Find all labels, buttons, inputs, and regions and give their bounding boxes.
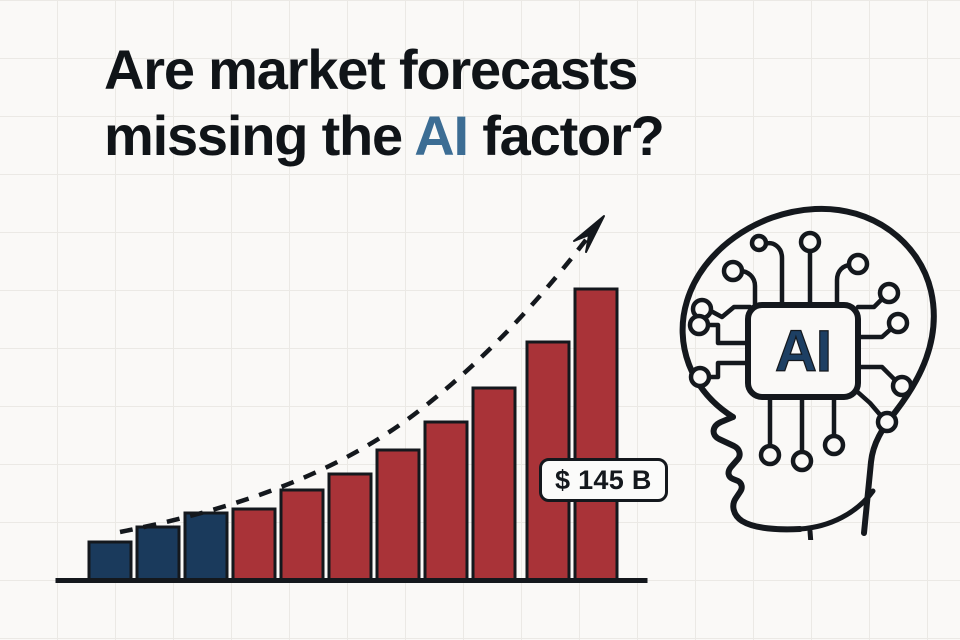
neck-line (810, 531, 814, 540)
circuit-node-8 (880, 284, 898, 302)
trace-right-2 (858, 328, 892, 337)
bar-3 (185, 513, 227, 580)
trace-right-1 (858, 298, 883, 307)
trace-right-3 (858, 367, 896, 381)
bar-2 (137, 527, 179, 580)
bar-4 (233, 509, 275, 580)
circuit-node-7 (691, 368, 709, 386)
trace-left-1 (706, 325, 748, 343)
bar-1 (89, 542, 131, 580)
circuit-node-1 (724, 262, 742, 280)
bars-group (89, 289, 617, 580)
trace-left-2 (707, 363, 748, 377)
ai-chip-label: AI (775, 319, 831, 384)
trace-left-step (709, 307, 750, 317)
bar-8 (425, 422, 467, 580)
trace-top-4 (837, 265, 851, 305)
circuit-node-11 (878, 413, 896, 431)
bar-7 (377, 450, 419, 580)
circuit-node-13 (793, 452, 811, 470)
bar-chart: $ 145 B (0, 0, 680, 640)
bar-5 (281, 490, 323, 580)
circuit-node-3 (801, 233, 819, 251)
face-profile (714, 417, 800, 529)
circuit-node-6 (690, 316, 708, 334)
circuit-node-12 (761, 446, 779, 464)
ai-brain-illustration: AI (630, 185, 960, 540)
trace-top-2 (765, 243, 782, 305)
circuit-node-4 (849, 255, 867, 273)
bar-9 (473, 388, 515, 580)
bar-6 (329, 474, 371, 580)
ai-brain-svg: AI (630, 185, 960, 540)
bar-11 (575, 289, 617, 580)
circuit-node-2 (752, 236, 766, 250)
chart-svg (0, 0, 680, 640)
circuit-node-10 (893, 377, 911, 395)
circuit-node-14 (825, 436, 843, 454)
infographic-canvas: Are market forecasts missing the AI fact… (0, 0, 960, 640)
circuit-node-9 (889, 314, 907, 332)
